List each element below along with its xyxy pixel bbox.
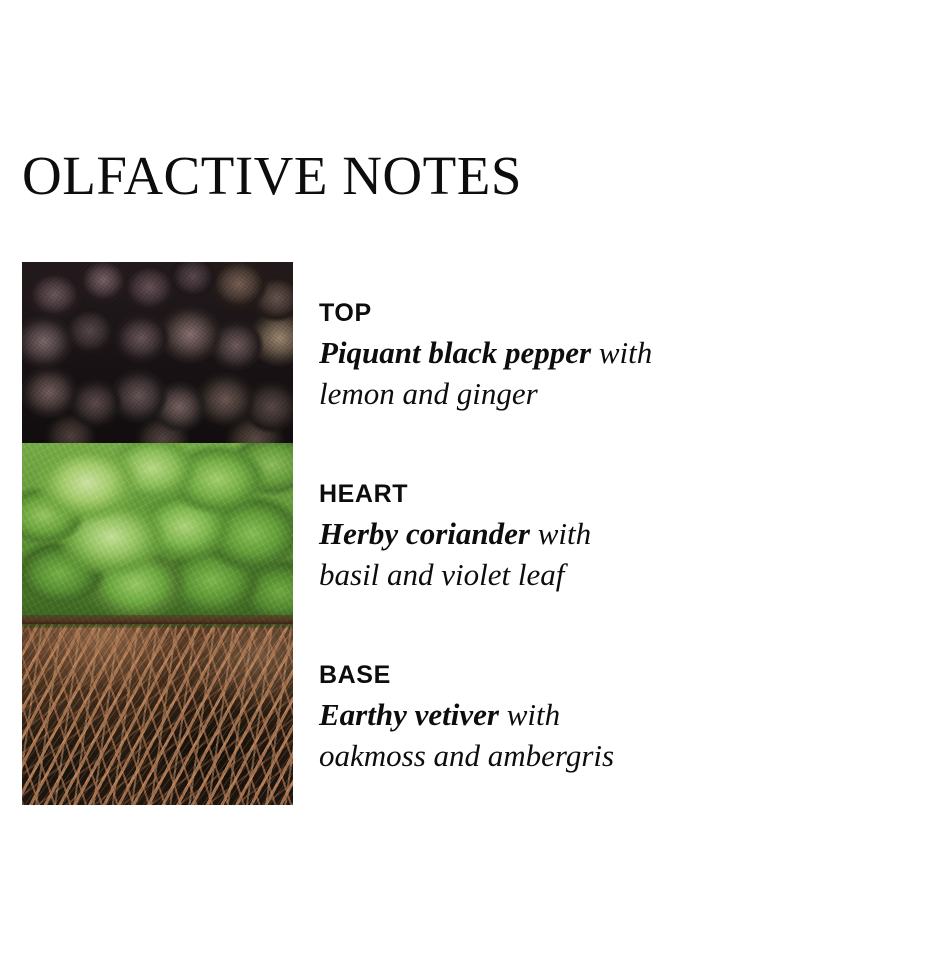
note-label-base: BASE	[319, 662, 689, 690]
vetiver-roots-photo	[22, 624, 293, 805]
page-title: OLFACTIVE NOTES	[22, 147, 522, 205]
note-accent-phrase: Piquant black pepper	[319, 335, 591, 370]
note-label-heart: HEART	[319, 481, 689, 509]
note-accent-phrase: Earthy vetiver	[319, 697, 499, 732]
notes-list: TOP Piquant black pepper with lemon and …	[22, 262, 682, 805]
olfactive-notes-panel: OLFACTIVE NOTES TOP Piquant black pepper…	[0, 0, 936, 978]
grass-edge-accent	[22, 624, 293, 628]
note-row: HEART Herby coriander with basil and vio…	[22, 443, 682, 624]
note-text-block: BASE Earthy vetiver with oakmoss and amb…	[319, 662, 689, 776]
vetiver-image-surface	[22, 624, 293, 805]
coriander-leaves-photo	[22, 443, 293, 624]
note-description: Piquant black pepper with lemon and ging…	[319, 332, 659, 414]
coriander-image-surface	[22, 443, 293, 624]
soil-edge-accent	[22, 615, 293, 624]
note-accent-phrase: Herby coriander	[319, 516, 530, 551]
note-description: Earthy vetiver with oakmoss and ambergri…	[319, 694, 659, 776]
note-text-block: TOP Piquant black pepper with lemon and …	[319, 300, 689, 414]
note-row: BASE Earthy vetiver with oakmoss and amb…	[22, 624, 682, 805]
note-text-block: HEART Herby coriander with basil and vio…	[319, 481, 689, 595]
note-description: Herby coriander with basil and violet le…	[319, 513, 659, 595]
peppercorns-image-surface	[22, 262, 293, 443]
note-row: TOP Piquant black pepper with lemon and …	[22, 262, 682, 443]
note-label-top: TOP	[319, 300, 689, 328]
black-peppercorns-photo	[22, 262, 293, 443]
